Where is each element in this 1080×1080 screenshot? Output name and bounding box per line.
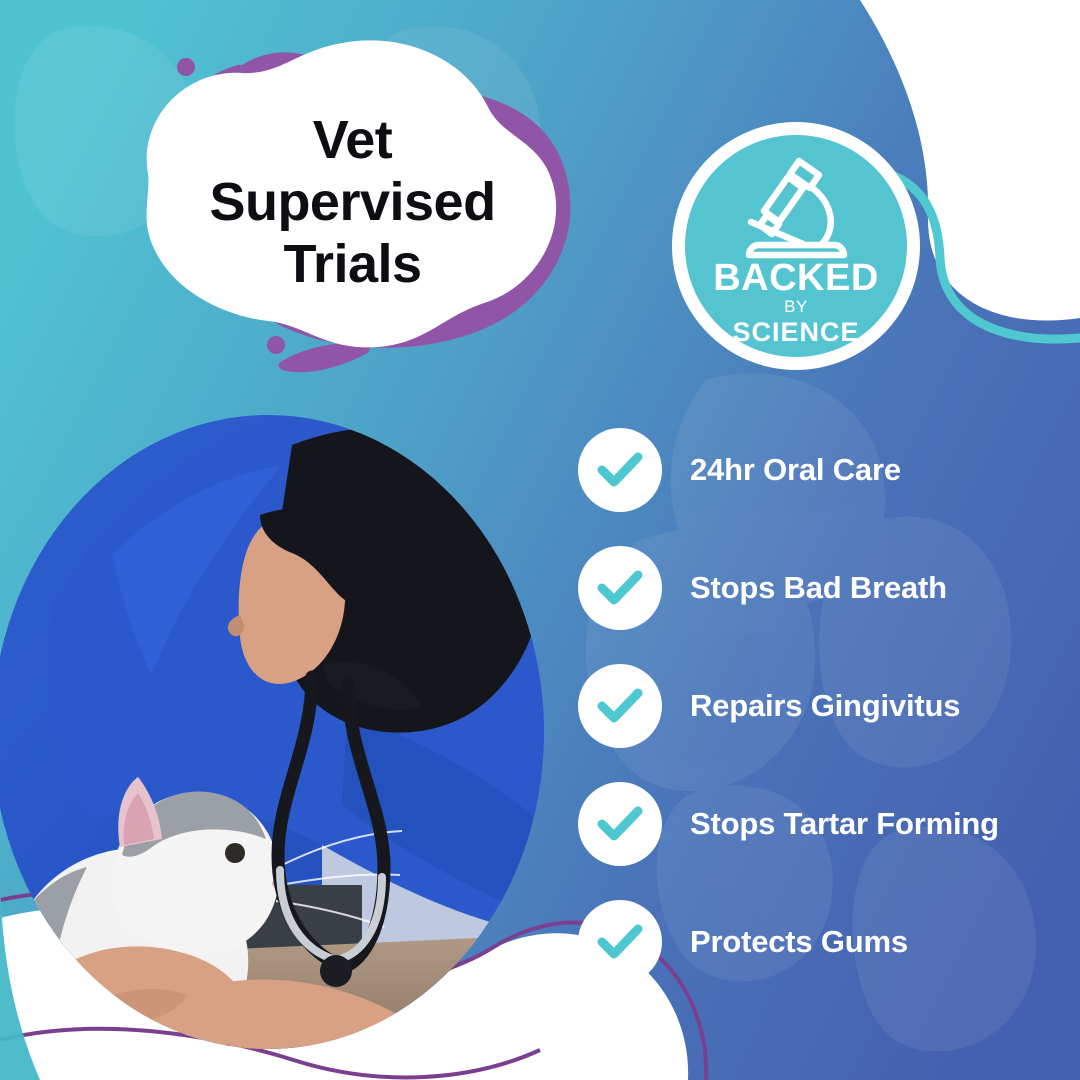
check-icon (597, 922, 643, 962)
check-badge (578, 782, 662, 866)
feature-list: 24hr Oral Care Stops Bad Breath Repairs … (578, 428, 1048, 1018)
check-icon (597, 686, 643, 726)
title-block: Vet Supervised Trials (120, 25, 585, 385)
check-badge (578, 900, 662, 984)
feature-label: Repairs Gingivitus (690, 688, 960, 724)
accent-dot-top (177, 58, 195, 76)
microscope-icon (741, 155, 853, 260)
check-badge (578, 428, 662, 512)
badge-label-science: SCIENCE (685, 318, 907, 346)
badge-label-by: BY (685, 298, 907, 316)
poster-canvas: Vet Supervised Trials (0, 0, 1080, 1080)
list-item[interactable]: Stops Tartar Forming (578, 782, 1048, 866)
feature-label: 24hr Oral Care (690, 452, 901, 488)
check-icon (597, 804, 643, 844)
feature-label: Protects Gums (690, 924, 908, 960)
badge-label-backed: BACKED (685, 259, 907, 297)
check-badge (578, 664, 662, 748)
page-title: Vet Supervised Trials (120, 109, 585, 295)
check-icon (597, 450, 643, 490)
backed-by-science-badge: BACKED BY SCIENCE (672, 122, 920, 370)
check-badge (578, 546, 662, 630)
list-item[interactable]: Stops Bad Breath (578, 546, 1048, 630)
vet-and-cat-illustration (0, 415, 544, 1050)
list-item[interactable]: Repairs Gingivitus (578, 664, 1048, 748)
feature-label: Stops Bad Breath (690, 570, 947, 606)
accent-dot-bottom (267, 336, 285, 354)
badge-face: BACKED BY SCIENCE (685, 135, 907, 357)
list-item[interactable]: 24hr Oral Care (578, 428, 1048, 512)
check-icon (597, 568, 643, 608)
feature-label: Stops Tartar Forming (690, 806, 999, 842)
vet-and-cat-photo (0, 415, 544, 1050)
list-item[interactable]: Protects Gums (578, 900, 1048, 984)
accent-swoosh-bottom (279, 343, 370, 373)
